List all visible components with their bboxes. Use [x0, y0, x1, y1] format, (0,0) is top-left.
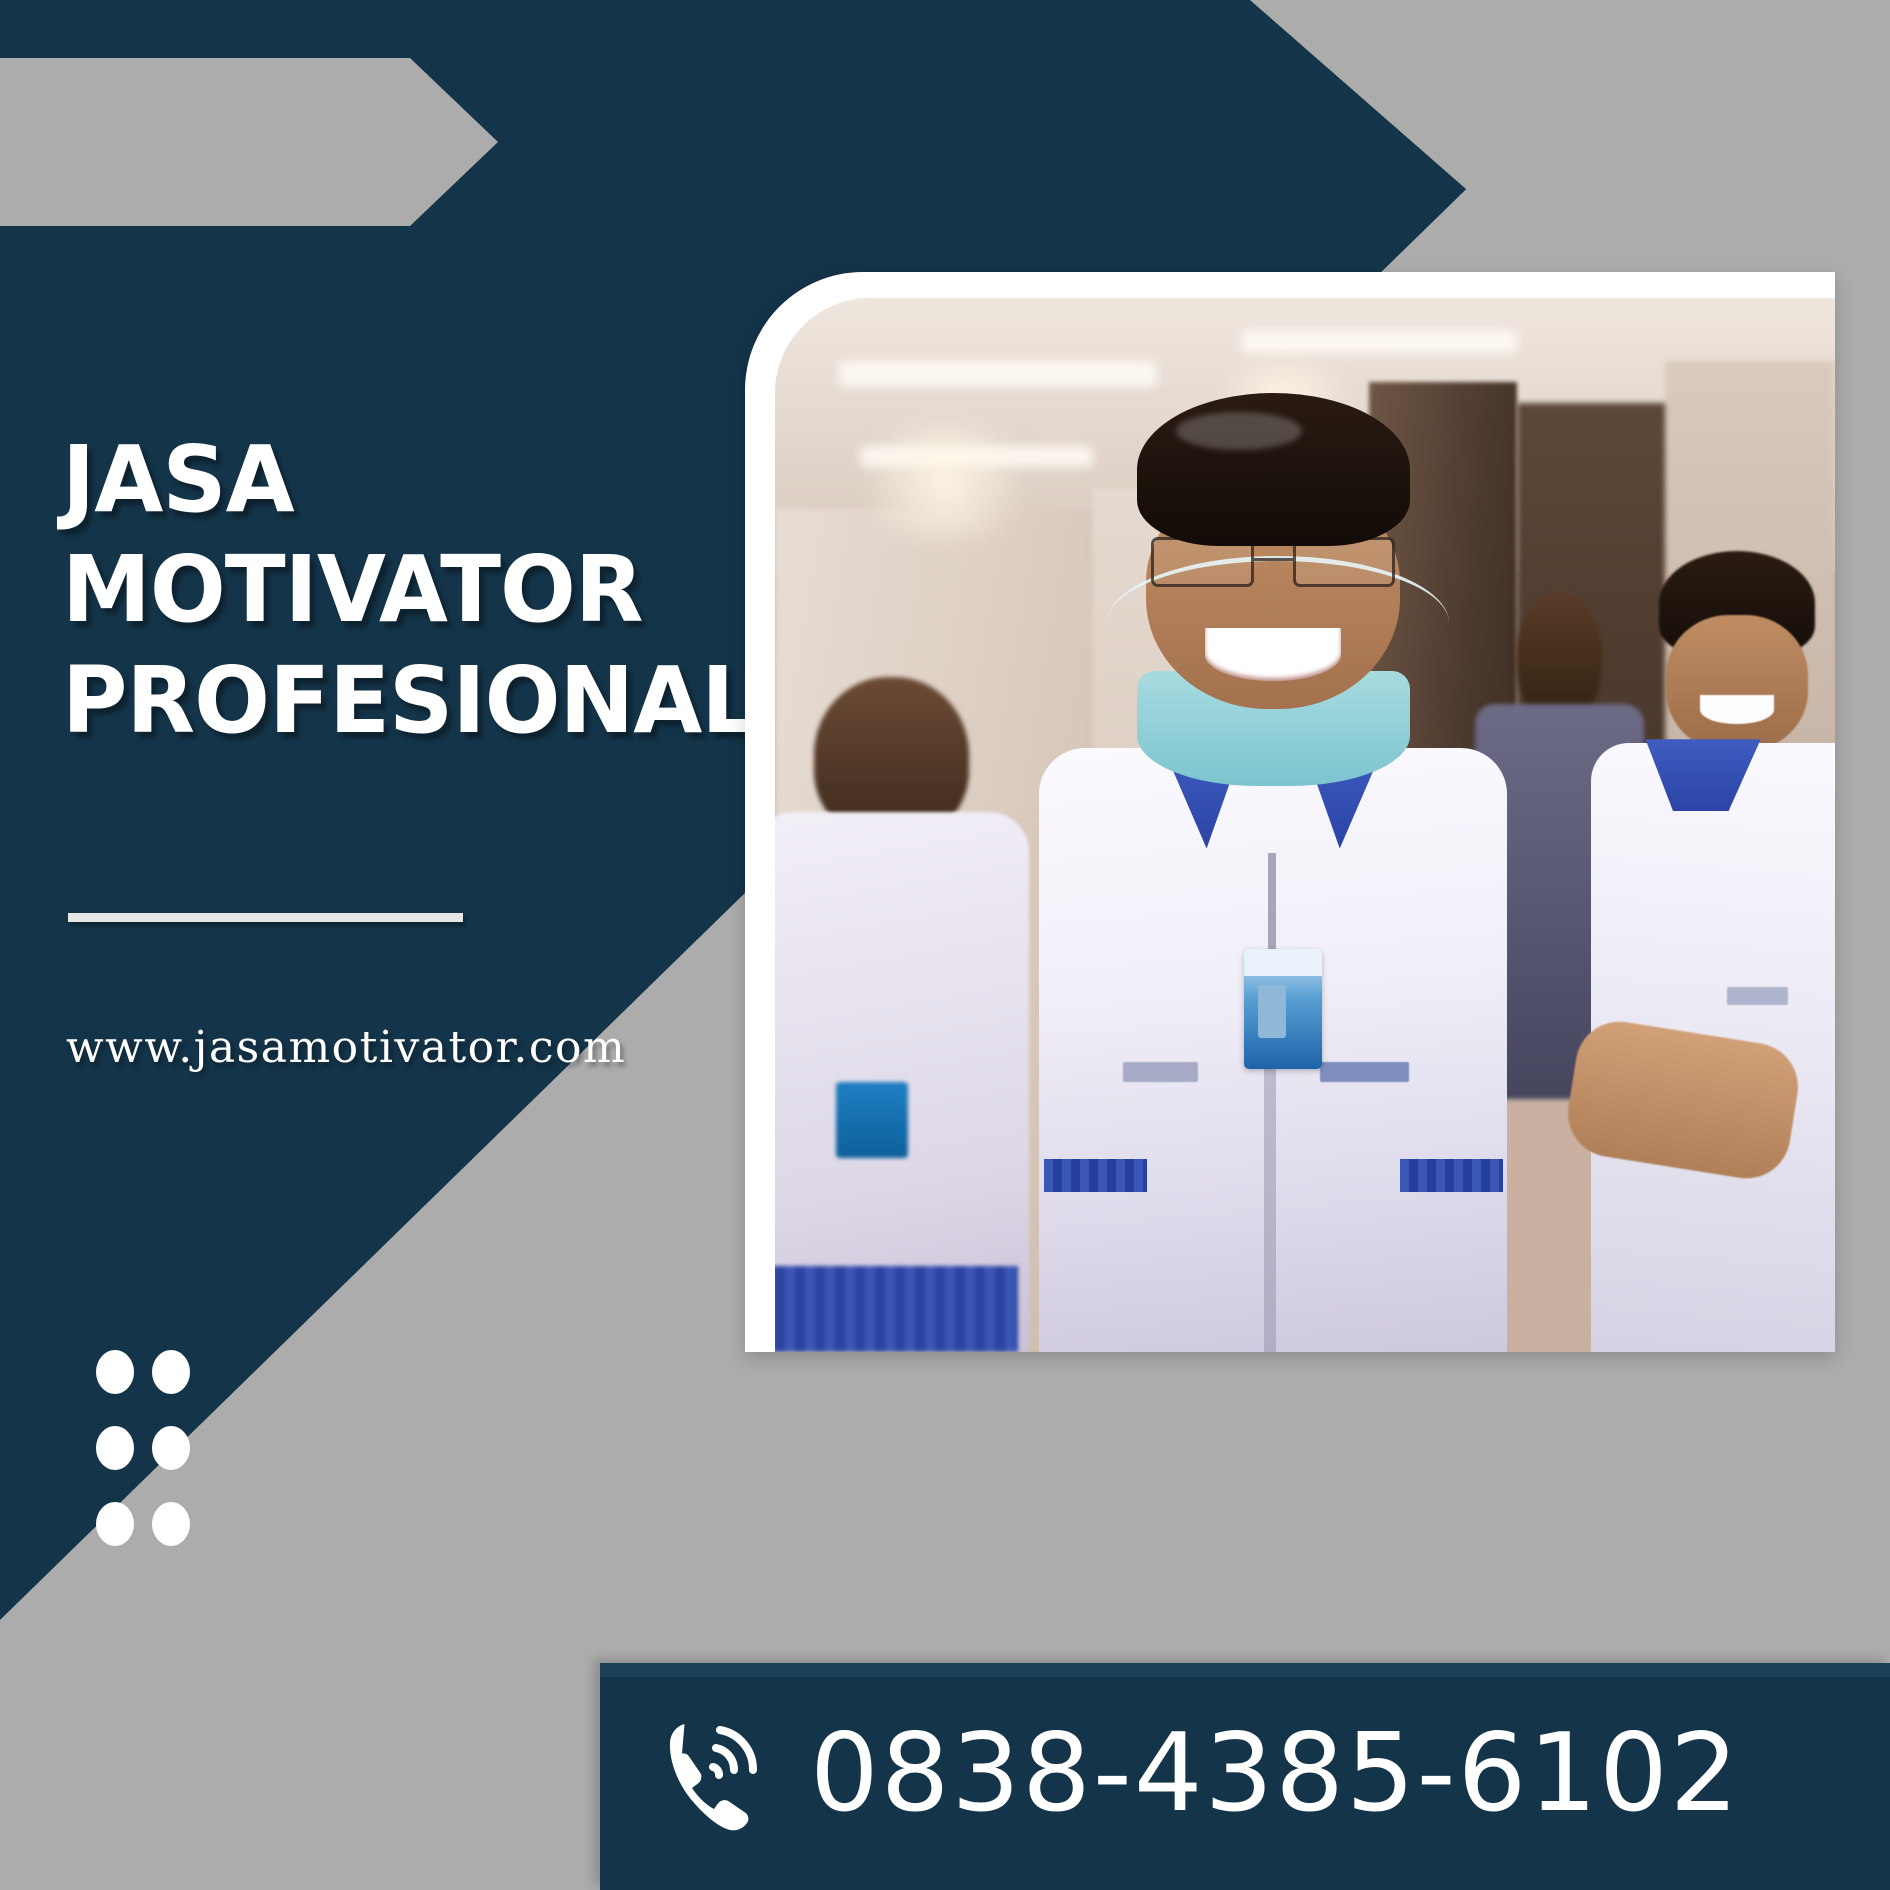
face	[1666, 615, 1808, 751]
batik-trim	[775, 1266, 1018, 1352]
photo-scene	[775, 298, 1835, 1352]
badge-header	[1244, 949, 1322, 975]
contact-bar: 0838-4385-6102	[600, 1663, 1890, 1890]
title-divider	[68, 913, 463, 922]
poster-stage: JASA MOTIVATOR PROFESIONAL www.jasamotiv…	[0, 0, 1890, 1890]
light-glow	[839, 424, 1051, 540]
id-badge	[836, 1082, 908, 1158]
website-url[interactable]: www.jasamotivator.com	[66, 1022, 626, 1073]
dot	[152, 1350, 190, 1394]
photo-card	[745, 272, 1835, 1352]
dot	[152, 1502, 190, 1546]
id-badge	[1244, 949, 1322, 1069]
dot-grid-decoration	[96, 1350, 208, 1578]
batik-cuff-left	[1044, 1159, 1147, 1192]
batik-cuff-right	[1400, 1159, 1503, 1192]
bumn-logo	[1123, 1062, 1198, 1083]
person-center-main	[1029, 393, 1517, 1352]
bank-btn-logo	[1320, 1062, 1409, 1083]
dot	[96, 1426, 134, 1470]
page-title: JASA MOTIVATOR PROFESIONAL	[62, 425, 741, 756]
uniform-logo	[1727, 987, 1788, 1005]
shirt-placket	[1264, 1026, 1276, 1352]
person-left-background	[775, 677, 1029, 1352]
smile	[1700, 695, 1775, 724]
badge-photo	[1258, 985, 1286, 1038]
arrow-banner	[0, 58, 498, 226]
ceiling-light	[1241, 330, 1517, 353]
glasses-bridge	[1254, 558, 1293, 561]
uniform-shirt	[775, 812, 1029, 1352]
ceiling-light	[839, 361, 1157, 386]
phone-number[interactable]: 0838-4385-6102	[810, 1720, 1741, 1828]
dot	[96, 1350, 134, 1394]
lanyard	[1268, 853, 1276, 959]
person-right-smiling	[1591, 551, 1835, 1352]
photo-image	[775, 298, 1835, 1352]
dot	[96, 1502, 134, 1546]
dot	[152, 1426, 190, 1470]
phone-call-icon	[658, 1718, 770, 1836]
